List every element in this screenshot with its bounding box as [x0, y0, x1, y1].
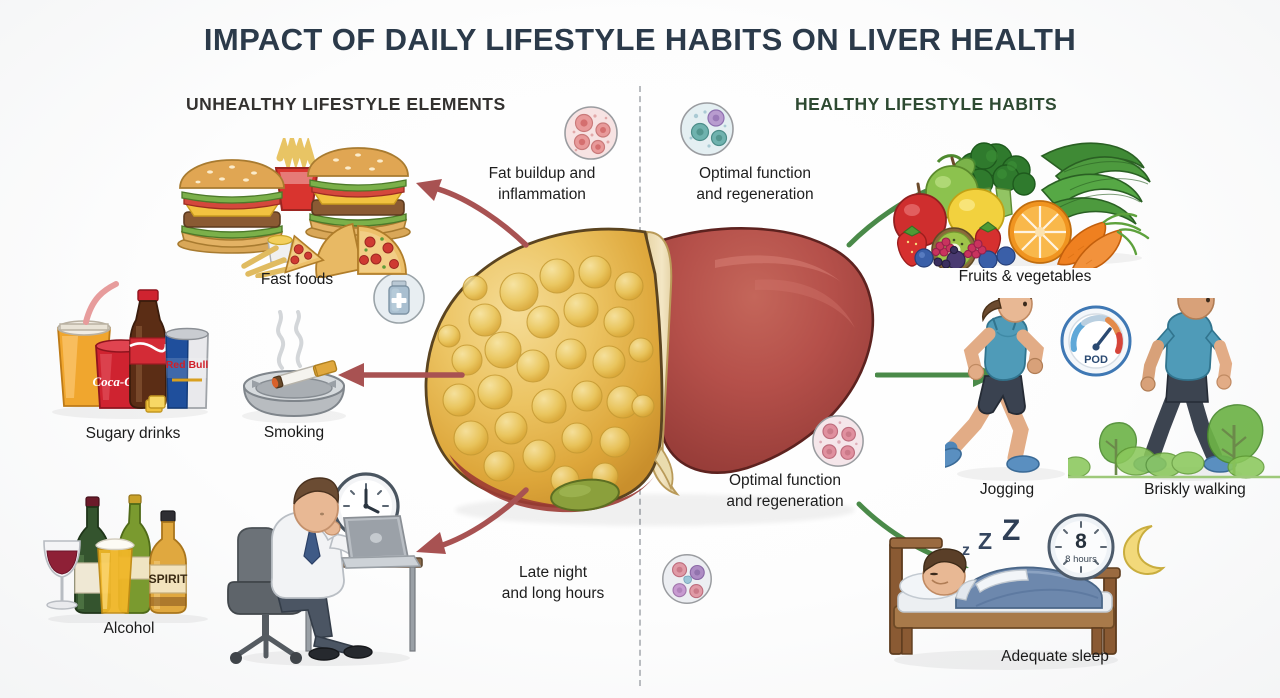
sugary-drinks-icon: Coca-Cola Red Bull: [42, 280, 222, 425]
snore-z-large: Z: [1002, 514, 1020, 548]
smoking-label: Smoking: [226, 424, 362, 442]
snore-z-small: z: [962, 542, 970, 560]
healthy-effect-top-line1: Optimal function: [660, 163, 850, 184]
healthy-cell-badge-bottom: [810, 413, 866, 474]
fast-food-icon: [172, 138, 422, 283]
alcohol-bottles-icon: SPIRIT: [36, 493, 221, 628]
snore-z-medium: Z: [978, 528, 992, 555]
arrow-to-jogging: [875, 355, 1005, 400]
unhealthy-section-heading: UNHEALTHY LIFESTYLE ELEMENTS: [186, 94, 506, 115]
walking-person-icon: [1128, 298, 1253, 488]
healthy-effect-bottom-line1: Optimal function: [690, 470, 880, 491]
arrow-to-smoking: [330, 355, 465, 400]
activity-gauge-icon: POD: [1058, 303, 1134, 384]
arrow-to-late-night: [398, 480, 533, 575]
fruits-vegetables-label: Fruits & vegetables: [900, 268, 1150, 286]
sleep-hours-text: 8 hours: [1065, 554, 1097, 565]
unhealthy-cell-badge-top: [562, 104, 620, 167]
adequate-sleep-label: Adequate sleep: [930, 648, 1180, 666]
late-night-line2: and long hours: [458, 583, 648, 604]
mixed-cell-badge: [660, 552, 714, 611]
healthy-effect-top-line2: and regeneration: [660, 184, 850, 205]
infographic-canvas: IMPACT OF DAILY LIFESTYLE HABITS ON LIVE…: [0, 0, 1280, 698]
healthy-effect-caption-bottom: Optimal function and regeneration: [690, 470, 880, 512]
energy-brand-text: Red Bull: [166, 359, 209, 371]
sleep-hours-number: 8: [1075, 530, 1087, 553]
briskly-walking-label: Briskly walking: [1110, 481, 1280, 499]
healthy-cell-badge-top: [678, 100, 736, 163]
gauge-label: POD: [1084, 354, 1108, 366]
healthy-effect-caption-top: Optimal function and regeneration: [660, 163, 850, 205]
alcohol-label: Alcohol: [44, 620, 214, 638]
spirit-brand-text: SPIRIT: [149, 572, 188, 586]
crescent-moon-icon: [1118, 524, 1168, 581]
healthy-effect-bottom-line2: and regeneration: [690, 491, 880, 512]
trees-background-icon: [1068, 395, 1280, 490]
arrow-to-fruits: [845, 165, 975, 255]
jogging-label: Jogging: [942, 481, 1072, 499]
sugary-drinks-label: Sugary drinks: [38, 425, 228, 443]
fast-foods-label: Fast foods: [172, 271, 422, 289]
sleep-hours-clock-icon: 8 8 hours: [1046, 512, 1116, 587]
healthy-section-heading: HEALTHY LIFESTYLE HABITS: [795, 94, 1057, 115]
cola-brand-text: Coca-Cola: [92, 374, 150, 389]
page-title: IMPACT OF DAILY LIFESTYLE HABITS ON LIVE…: [0, 22, 1280, 58]
